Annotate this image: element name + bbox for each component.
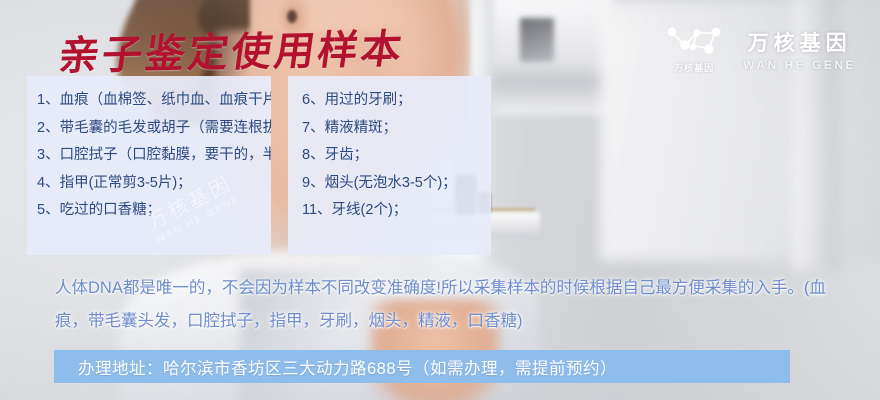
molecule-icon <box>663 24 725 58</box>
sample-list-right: 6、用过的牙刷； 7、精液精斑； 8、牙齿； 9、烟头(无泡水3-5个)； 11… <box>302 87 491 225</box>
watermark: 万核基因 WAN HE GENE <box>97 246 170 255</box>
watermark-cn: 万核基因 <box>97 246 165 255</box>
description-paragraph: 人体DNA都是唯一的，不会因为样本不同改变准确度!所以采集样本的时候根据自己最方… <box>55 272 845 338</box>
list-item: 2、带毛囊的毛发或胡子（需要连根拔起）； <box>37 115 271 143</box>
list-item: 3、口腔拭子（口腔黏膜，要干的，半年内）； <box>37 142 271 170</box>
list-item: 6、用过的牙刷； <box>302 87 491 115</box>
sample-list-panel-left: 万核基因 WAN HE GENE 万核基因 WAN HE GENE 1、血痕（血… <box>27 76 271 255</box>
sample-list-panel-right: 万核基因 WAN HE GENE <box>288 76 491 255</box>
logo-name-en: WAN HE GENE <box>743 58 856 72</box>
list-item: 8、牙齿； <box>302 142 491 170</box>
list-item: 11、牙线(2个)； <box>302 197 491 225</box>
address-banner-text: 办理地址：哈尔滨市香坊区三大动力路688号（如需办理，需提前预约） <box>78 355 617 379</box>
page-title: 亲子鉴定使用样本 <box>55 16 408 81</box>
list-item: 7、精液精斑； <box>302 115 491 143</box>
list-item: 4、指甲(正常剪3-5片)； <box>37 170 271 198</box>
list-item: 5、吃过的口香糖； <box>37 197 271 225</box>
logo-mark-label: 万核基因 <box>674 61 714 74</box>
list-item: 9、烟头(无泡水3-5个)； <box>302 170 491 198</box>
poster-canvas: 亲子鉴定使用样本 <box>0 0 880 400</box>
logo-mark: 万核基因 <box>663 24 725 74</box>
logo-wordmark: 万核基因 WAN HE GENE <box>743 27 856 72</box>
address-banner: 办理地址：哈尔滨市香坊区三大动力路688号（如需办理，需提前预约） <box>54 350 790 383</box>
list-item: 1、血痕（血棉签、纸巾血、血痕干片、血布）； <box>37 87 271 115</box>
logo-name-cn: 万核基因 <box>748 27 852 57</box>
sample-list-left: 1、血痕（血棉签、纸巾血、血痕干片、血布）； 2、带毛囊的毛发或胡子（需要连根拔… <box>37 87 271 225</box>
brand-logo: 万核基因 万核基因 WAN HE GENE <box>663 24 856 74</box>
